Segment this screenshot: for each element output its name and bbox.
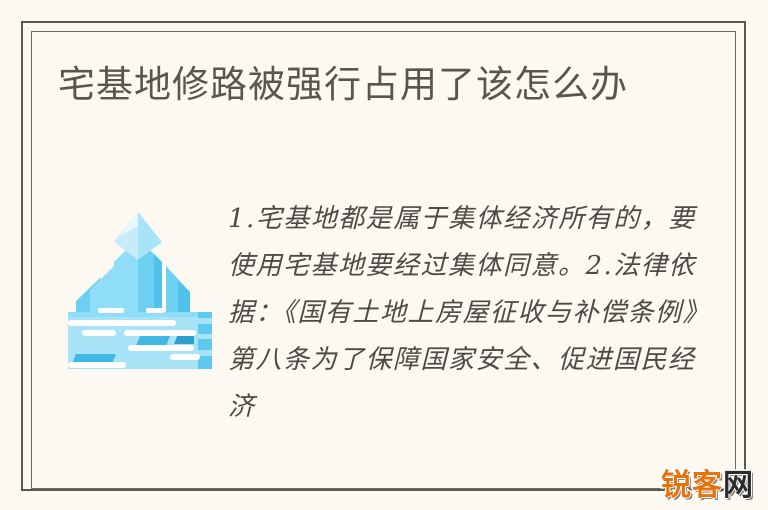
article-body-row: 1.宅基地都是属于集体经济所有的，要使用宅基地要经过集体同意。2.法律依据：《国… xyxy=(58,196,718,471)
page-title: 宅基地修路被强行占用了该怎么办 xyxy=(58,58,658,111)
content-card: 宅基地修路被强行占用了该怎么办 xyxy=(0,0,768,510)
article-body-text: 1.宅基地都是属于集体经济所有的，要使用宅基地要经过集体同意。2.法律依据：《国… xyxy=(228,196,718,464)
site-watermark: 锐客网 xyxy=(661,460,754,504)
iceberg-illustration xyxy=(58,204,218,369)
watermark-suffix: 网 xyxy=(723,468,754,503)
iceberg-icon xyxy=(58,204,218,369)
watermark-prefix: 锐客 xyxy=(661,468,723,503)
